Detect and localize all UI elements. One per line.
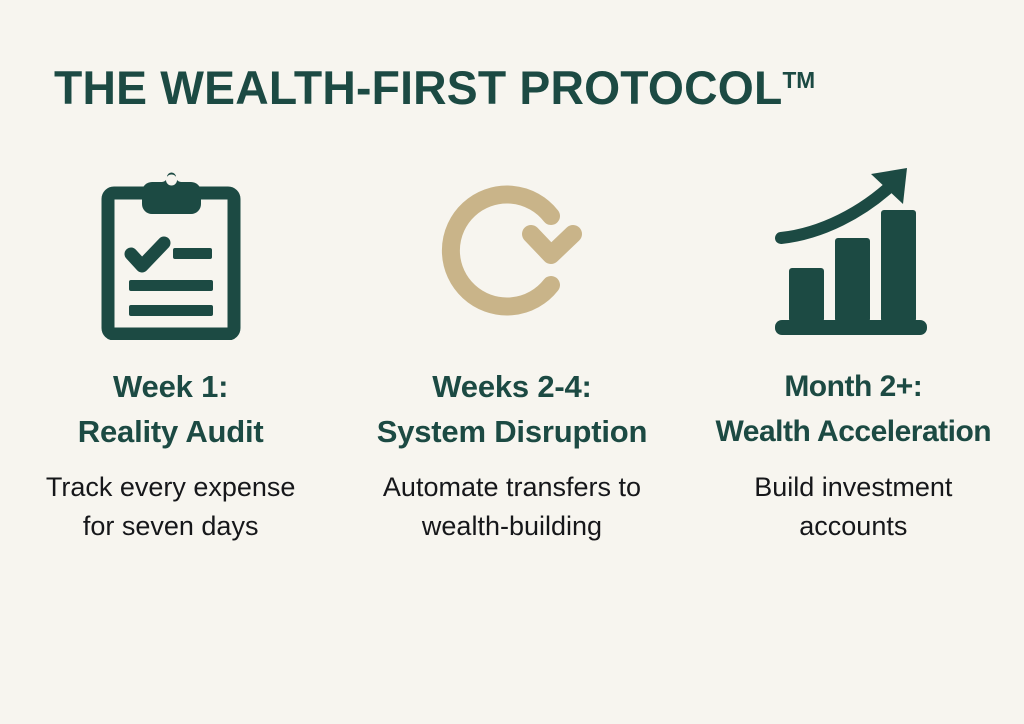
trademark-symbol: TM (782, 67, 815, 93)
steps-row: Week 1: Reality Audit Track every expens… (0, 150, 1024, 546)
step-heading-line-1: Weeks 2-4: (377, 364, 647, 409)
step-heading-line-2: Reality Audit (78, 409, 264, 454)
step-card-week-1: Week 1: Reality Audit Track every expens… (0, 150, 341, 546)
growth-bar-chart-icon (767, 150, 939, 350)
step-description: Track every expense for seven days (46, 468, 296, 546)
page-title: THE WEALTH-FIRST PROTOCOLTM (54, 52, 956, 116)
step-heading-line-1: Month 2+: (716, 364, 992, 409)
step-heading-line-2: System Disruption (377, 409, 647, 454)
step-card-weeks-2-4: Weeks 2-4: System Disruption Automate tr… (341, 150, 682, 546)
step-heading-line-1: Week 1: (78, 364, 264, 409)
clipboard-checklist-icon (89, 150, 253, 350)
step-card-month-2-plus: Month 2+: Wealth Acceleration Build inve… (683, 150, 1024, 546)
infographic-poster: THE WEALTH-FIRST PROTOCOLTM (0, 0, 1024, 724)
step-description: Automate transfers to wealth-building (382, 468, 642, 546)
step-heading: Weeks 2-4: System Disruption (377, 364, 647, 454)
step-description: Build investment accounts (708, 468, 998, 546)
circular-refresh-arrow-icon (427, 150, 597, 350)
step-heading: Week 1: Reality Audit (78, 364, 264, 454)
page-title-text: THE WEALTH-FIRST PROTOCOL (54, 61, 782, 114)
step-heading: Month 2+: Wealth Acceleration (716, 364, 992, 454)
step-heading-line-2: Wealth Acceleration (716, 409, 992, 454)
